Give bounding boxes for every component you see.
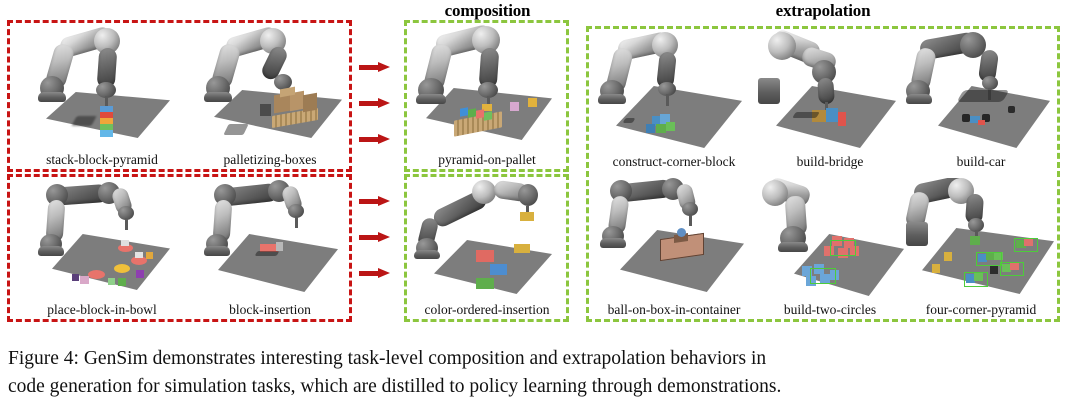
caption-line-2: code generation for simulation tasks, wh…	[8, 373, 1072, 401]
arm-joint-wrist	[518, 184, 538, 206]
block-red	[476, 250, 494, 262]
arm-base	[906, 94, 932, 104]
goal-outline-green	[1014, 238, 1038, 252]
block-green	[476, 278, 494, 289]
block-yellow	[932, 264, 940, 273]
gripper	[125, 218, 128, 230]
task-label: build-car	[906, 154, 1056, 170]
task-scene	[410, 178, 564, 299]
arm-joint-shoulder	[762, 180, 788, 206]
block-green-held	[970, 236, 980, 245]
arm-base	[204, 92, 232, 102]
task-cell-stack-block-pyramid: stack-block-pyramid	[22, 24, 182, 168]
task-cell-palletizing-boxes: palletizing-boxes	[190, 24, 350, 168]
task-label: construct-corner-block	[596, 154, 752, 170]
arm-base	[416, 94, 446, 104]
task-label: palletizing-boxes	[190, 152, 350, 168]
block-pink	[80, 276, 89, 284]
gripper	[689, 214, 692, 226]
task-scene	[756, 30, 904, 151]
task-cell-build-bridge: build-bridge	[756, 30, 904, 170]
gripper	[666, 94, 669, 106]
arrow-right-icon	[359, 196, 393, 207]
task-scene	[190, 24, 350, 149]
task-cell-color-ordered-insertion: color-ordered-insertion	[410, 178, 564, 318]
block-wheel-dark	[1008, 106, 1015, 113]
task-scene	[410, 24, 564, 149]
figure-root: composition extrapolation	[0, 0, 1080, 413]
block-lightgreen	[108, 278, 115, 285]
task-cell-pyramid-on-pallet: pyramid-on-pallet	[410, 24, 564, 168]
caption-line-1: Figure 4: GenSim demonstrates interestin…	[8, 345, 1072, 373]
block-gray	[276, 242, 283, 251]
box-dark	[260, 104, 271, 116]
goal-outline-green	[976, 252, 1002, 266]
arm-base	[600, 238, 626, 248]
task-scene	[596, 178, 752, 299]
task-scene	[190, 178, 350, 299]
block-dark	[990, 266, 998, 274]
task-cell-build-two-circles: build-two-circles	[756, 178, 904, 318]
arm-base	[778, 242, 808, 252]
task-cell-place-block-in-bowl: place-block-in-bowl	[22, 178, 182, 318]
arm-base	[38, 246, 64, 256]
arrow-right-icon	[359, 98, 393, 109]
block-blue	[460, 107, 468, 117]
block-green	[666, 122, 675, 131]
task-scene	[906, 30, 1056, 151]
block-yellow	[944, 252, 952, 261]
object-shadow	[957, 90, 1010, 102]
task-cell-four-corner-pyramid: four-corner-pyramid	[906, 178, 1056, 318]
arm-joint-shoulder	[768, 32, 796, 60]
block-green	[656, 124, 666, 133]
arm-segment-wrist	[817, 77, 835, 104]
goal-outline-green	[830, 240, 856, 256]
arrow-group-bottom	[359, 196, 393, 304]
block-yellow	[528, 98, 537, 107]
block-green	[118, 278, 126, 286]
block-yellow	[514, 244, 530, 253]
task-label: four-corner-pyramid	[906, 302, 1056, 318]
arm-base	[38, 92, 66, 102]
task-label: build-two-circles	[756, 302, 904, 318]
task-label: build-bridge	[756, 154, 904, 170]
block-red	[476, 109, 484, 119]
arrow-right-icon	[359, 232, 393, 243]
task-label: pyramid-on-pallet	[410, 152, 564, 168]
block-blue	[646, 124, 655, 133]
task-scene	[906, 178, 1056, 299]
block-red-pillar	[838, 112, 846, 126]
arm-base	[758, 78, 780, 104]
section-header-extrapolation: extrapolation	[586, 1, 1060, 21]
arm-joint-shoulder	[472, 180, 496, 204]
task-scene	[22, 24, 182, 149]
arm-base	[598, 94, 626, 104]
task-label: block-insertion	[190, 302, 350, 318]
arm-base	[906, 222, 928, 246]
task-label: place-block-in-bowl	[22, 302, 182, 318]
block-pink	[510, 102, 519, 111]
block-red-body	[978, 120, 985, 125]
section-header-composition: composition	[405, 1, 570, 21]
block-darkpurple	[72, 274, 79, 281]
block-white	[121, 240, 129, 246]
task-label: ball-on-box-in-container	[596, 302, 752, 318]
table-plane	[616, 86, 742, 148]
task-label: color-ordered-insertion	[410, 302, 564, 318]
goal-outline-green	[1000, 262, 1024, 276]
arrow-right-icon	[359, 62, 393, 73]
bowl-yellow	[114, 264, 130, 273]
arm-base	[414, 250, 440, 259]
task-scene	[596, 30, 752, 151]
box-cardboard	[303, 93, 317, 112]
arrow-right-icon	[359, 134, 393, 145]
task-scene	[756, 178, 904, 299]
arrow-group-top	[359, 62, 393, 170]
object-shadow	[255, 251, 280, 256]
block-wheel-dark	[962, 114, 970, 122]
task-cell-build-car: build-car	[906, 30, 1056, 170]
bowl-red	[88, 270, 105, 279]
block-orange	[146, 252, 153, 259]
task-cell-construct-corner-block: construct-corner-block	[596, 30, 752, 170]
arm-base	[204, 246, 230, 256]
block-purple	[136, 270, 144, 278]
object-shadow	[792, 112, 820, 118]
block-green	[484, 111, 492, 121]
ball-blue	[677, 228, 686, 237]
block-cyan	[100, 130, 113, 137]
block-yellow-held	[520, 212, 534, 221]
goal-outline-green	[964, 272, 988, 287]
gripper	[295, 216, 298, 228]
figure-caption: Figure 4: GenSim demonstrates interestin…	[8, 345, 1072, 401]
target-zone-shadow	[223, 124, 248, 135]
block-blue	[490, 264, 507, 275]
block-white	[135, 252, 143, 258]
arrow-right-icon	[359, 268, 393, 279]
goal-outline-green	[810, 268, 836, 284]
block-green	[468, 108, 476, 118]
task-scene	[22, 178, 182, 299]
task-cell-block-insertion: block-insertion	[190, 178, 350, 318]
task-label: stack-block-pyramid	[22, 152, 182, 168]
task-cell-ball-on-box-in-container: ball-on-box-in-container	[596, 178, 752, 318]
block-blue-pillar	[826, 108, 838, 122]
